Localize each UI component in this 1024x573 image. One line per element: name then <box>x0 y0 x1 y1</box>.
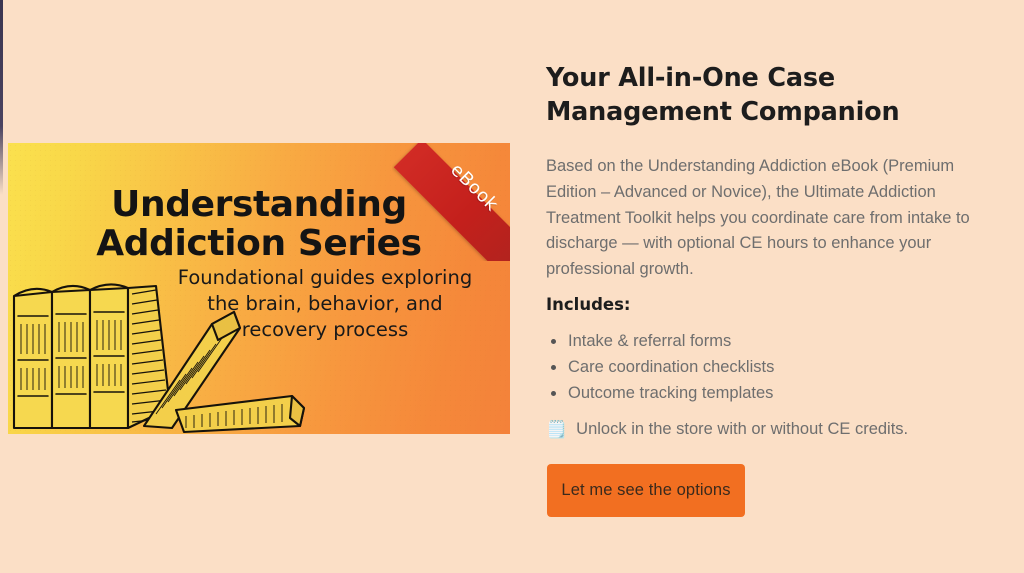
includes-heading: Includes: <box>546 294 631 316</box>
cover-subtitle-line-1: Foundational guides exploring <box>158 265 492 291</box>
feature-list: Intake & referral forms Care coordinatio… <box>546 328 774 407</box>
store-note-text: Unlock in the store with or without CE c… <box>576 416 908 442</box>
list-item: Outcome tracking templates <box>546 380 774 406</box>
page-title: Your All-in-One Case Management Companio… <box>546 61 970 129</box>
promo-section: Understanding Addiction Series Foundatio… <box>0 0 1024 573</box>
description-paragraph: Based on the Understanding Addiction eBo… <box>546 154 974 283</box>
cover-subtitle-line-3: recovery process <box>158 317 492 343</box>
list-item: Care coordination checklists <box>546 354 774 380</box>
see-options-button[interactable]: Let me see the options <box>547 464 745 517</box>
ebook-corner-ribbon: eBook <box>392 143 510 261</box>
list-item: Intake & referral forms <box>546 328 774 354</box>
cover-subtitle-line-2: the brain, behavior, and <box>158 291 492 317</box>
promo-text-panel: Your All-in-One Case Management Companio… <box>546 0 986 573</box>
left-edge-sliver <box>0 0 3 573</box>
store-note: 🗒️ Unlock in the store with or without C… <box>546 416 908 442</box>
ebook-cover-image: Understanding Addiction Series Foundatio… <box>8 143 510 434</box>
cover-subtitle: Foundational guides exploring the brain,… <box>8 265 510 343</box>
note-card-icon: 🗒️ <box>546 421 567 438</box>
